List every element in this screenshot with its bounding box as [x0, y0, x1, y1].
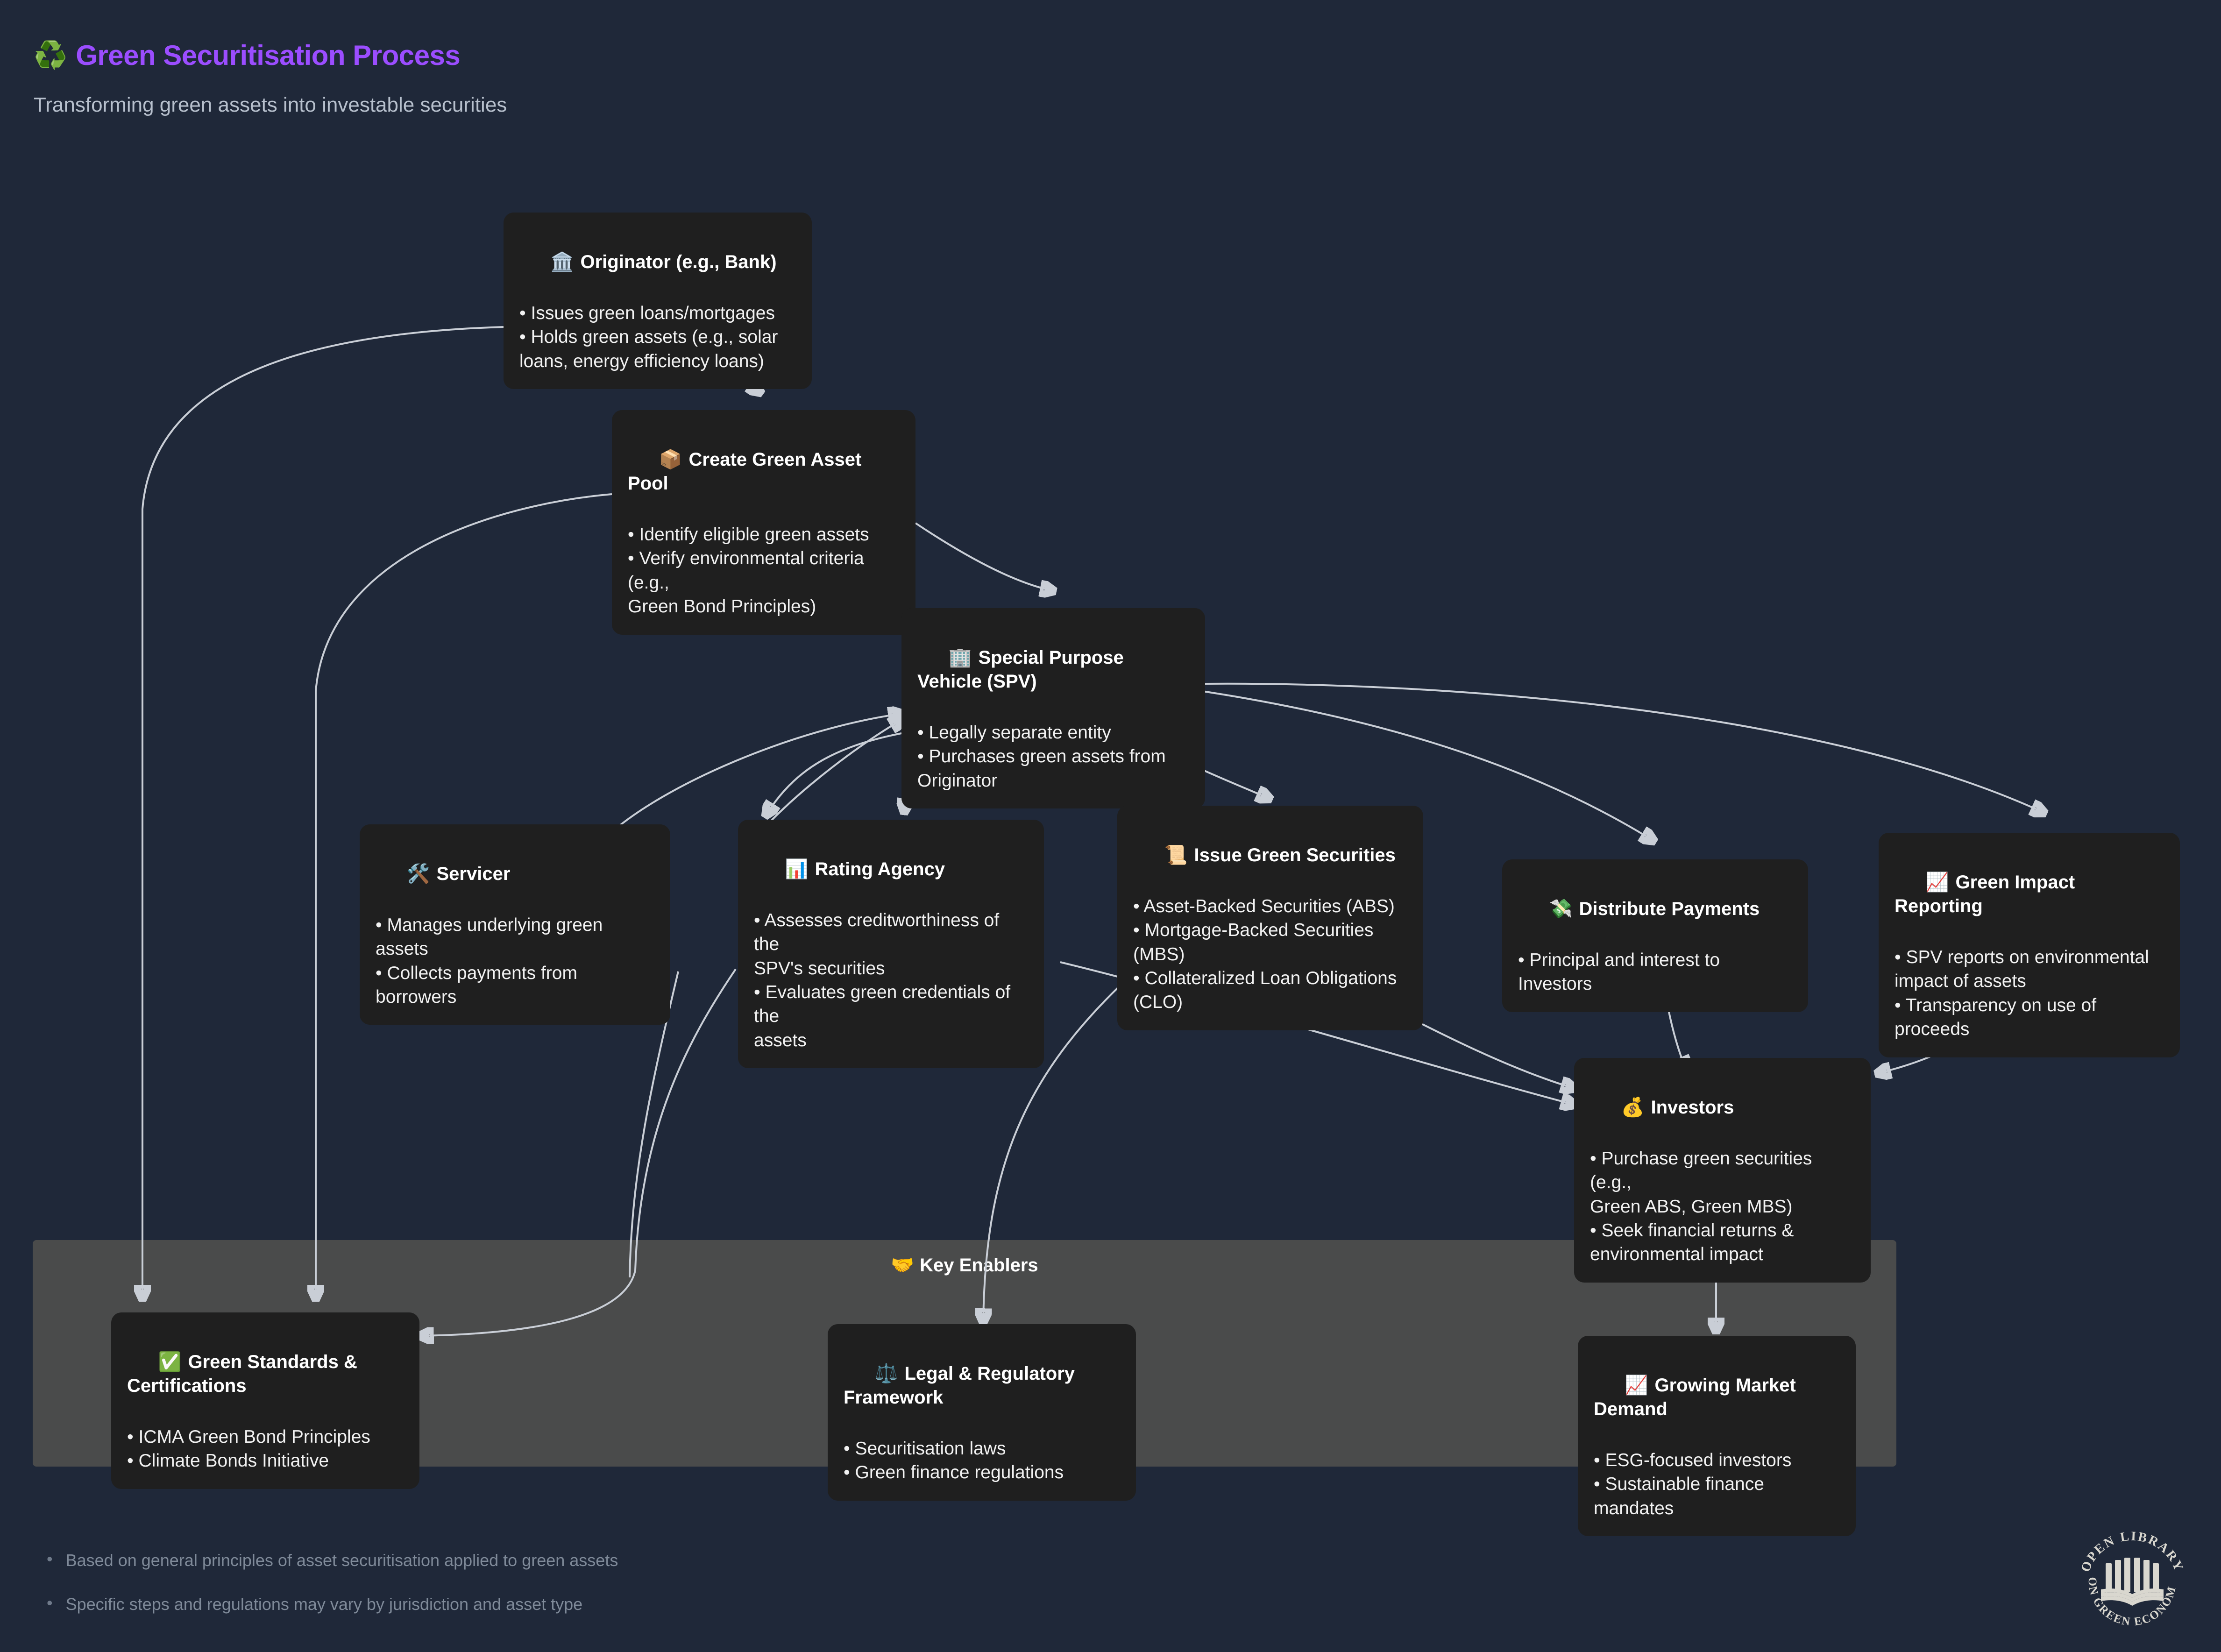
node-title: 💸Distribute Payments: [1518, 873, 1792, 945]
node-green-impact-reporting[interactable]: 📈Green Impact Reporting • SPV reports on…: [1879, 833, 2180, 1057]
node-bullet: • Legally separate entity: [917, 721, 1189, 744]
edge-spv-to-servicer: [766, 733, 901, 815]
node-bullet: • Evaluates green credentials of the: [754, 980, 1028, 1028]
footer-note: • Based on general principles of asset s…: [47, 1551, 618, 1570]
node-bullet: • Collects payments from: [376, 961, 654, 985]
node-title: 📊Rating Agency: [754, 834, 1028, 906]
open-book-icon: [2101, 1558, 2164, 1606]
footer-note: • Specific steps and regulations may var…: [47, 1595, 618, 1614]
node-title: 📜Issue Green Securities: [1133, 820, 1407, 892]
edge-rating-to-spv: [757, 719, 902, 836]
key-enablers-label: Key Enablers: [920, 1255, 1038, 1276]
node-bullet: • ESG-focused investors: [1594, 1448, 1840, 1472]
page-header: ♻️ Green Securitisation Process: [34, 39, 460, 71]
office-building-icon: 🏢: [949, 647, 972, 668]
chart-increasing-icon: 📈: [1926, 872, 1949, 893]
node-bullet: • Assesses creditworthiness of the: [754, 908, 1028, 957]
bullet-dot-icon: •: [47, 1595, 53, 1611]
node-bullet: • Verify environmental criteria (e.g.,: [628, 546, 900, 595]
node-bullet: Originator: [917, 769, 1189, 793]
node-bullet: assets: [754, 1028, 1028, 1052]
svg-text:OPEN LIBRARY: OPEN LIBRARY: [2078, 1529, 2186, 1574]
node-bullet: • Climate Bonds Initiative: [127, 1449, 404, 1473]
node-title: 🏢Special Purpose Vehicle (SPV): [917, 622, 1189, 718]
watermark-top-text: OPEN LIBRARY: [2078, 1529, 2186, 1574]
node-bullet: SPV's securities: [754, 957, 1028, 980]
node-bullet: impact of assets: [1895, 969, 2164, 993]
node-bullet: • Mortgage-Backed Securities (MBS): [1133, 918, 1407, 966]
node-bullet: • Asset-Backed Securities (ABS): [1133, 894, 1407, 918]
node-bullet: • Identify eligible green assets: [628, 523, 900, 546]
node-title: ✅Green Standards & Certifications: [127, 1326, 404, 1422]
package-icon: 📦: [659, 449, 682, 470]
money-bag-icon: 💰: [1621, 1097, 1645, 1118]
node-bullet: • Transparency on use of proceeds: [1895, 993, 2164, 1042]
node-bullet: • ICMA Green Bond Principles: [127, 1425, 404, 1449]
node-bullet: • Securitisation laws: [844, 1437, 1120, 1461]
node-bullet: • Collateralized Loan Obligations: [1133, 966, 1407, 990]
money-with-wings-icon: 💸: [1549, 899, 1573, 919]
handshake-icon: 🤝: [891, 1255, 914, 1276]
check-mark-button-icon: ✅: [158, 1352, 182, 1372]
footer-note-text: Specific steps and regulations may vary …: [66, 1595, 583, 1614]
edge-spv-to-green-impact-reporting: [1204, 684, 2044, 813]
page-title: Green Securitisation Process: [76, 39, 460, 71]
classical-building-icon: 🏛️: [551, 252, 574, 272]
node-legal-regulatory-framework[interactable]: ⚖️Legal & Regulatory Framework • Securit…: [828, 1324, 1136, 1501]
node-bullet: • Issues green loans/mortgages: [519, 301, 796, 325]
node-create-green-asset-pool[interactable]: 📦Create Green Asset Pool • Identify elig…: [612, 410, 915, 635]
node-title: ⚖️Legal & Regulatory Framework: [844, 1338, 1120, 1434]
node-bullet: • Holds green assets (e.g., solar: [519, 325, 796, 349]
node-title: 💰Investors: [1590, 1072, 1855, 1144]
node-title: 📈Growing Market Demand: [1594, 1350, 1840, 1446]
recycling-icon: ♻️: [34, 42, 67, 69]
node-bullet: • Purchase green securities (e.g.,: [1590, 1147, 1855, 1195]
node-bullet: (CLO): [1133, 990, 1407, 1014]
node-rating-agency[interactable]: 📊Rating Agency • Assesses creditworthine…: [738, 820, 1044, 1068]
node-servicer[interactable]: 🛠️Servicer • Manages underlying green as…: [360, 824, 670, 1025]
scroll-icon: 📜: [1164, 845, 1188, 865]
node-bullet: environmental impact: [1590, 1242, 1855, 1266]
node-bullet: • Purchases green assets from: [917, 744, 1189, 768]
chart-increasing-icon: 📈: [1625, 1375, 1648, 1396]
edge-originator-to-green-standards: [142, 327, 504, 1298]
diagram-canvas: ♻️ Green Securitisation Process Transfor…: [0, 0, 2221, 1652]
node-title: 🛠️Servicer: [376, 838, 654, 910]
node-issue-green-securities[interactable]: 📜Issue Green Securities • Asset-Backed S…: [1117, 806, 1423, 1030]
page-subtitle: Transforming green assets into investabl…: [34, 93, 507, 117]
node-originator[interactable]: 🏛️Originator (e.g., Bank) • Issues green…: [504, 213, 812, 389]
bar-chart-icon: 📊: [785, 859, 809, 879]
footer-notes: • Based on general principles of asset s…: [47, 1551, 618, 1638]
node-bullet: • Sustainable finance mandates: [1594, 1472, 1840, 1520]
node-distribute-payments[interactable]: 💸Distribute Payments • Principal and int…: [1502, 859, 1808, 1012]
watermark-logo: OPEN LIBRARY ON GREEN ECONOMY: [2074, 1520, 2191, 1637]
bullet-dot-icon: •: [47, 1551, 53, 1567]
footer-note-text: Based on general principles of asset sec…: [66, 1551, 618, 1570]
node-bullet: borrowers: [376, 985, 654, 1009]
edge-servicer-to-spv: [607, 714, 901, 836]
node-investors[interactable]: 💰Investors • Purchase green securities (…: [1574, 1058, 1871, 1283]
node-bullet: • SPV reports on environmental: [1895, 945, 2164, 969]
node-bullet: Green ABS, Green MBS): [1590, 1195, 1855, 1219]
node-special-purpose-vehicle[interactable]: 🏢Special Purpose Vehicle (SPV) • Legally…: [901, 608, 1205, 808]
node-bullet: • Green finance regulations: [844, 1461, 1120, 1484]
node-bullet: • Manages underlying green assets: [376, 913, 654, 961]
node-title: 📈Green Impact Reporting: [1895, 847, 2164, 943]
node-bullet: loans, energy efficiency loans): [519, 349, 796, 373]
node-bullet: Green Bond Principles): [628, 595, 900, 618]
node-growing-market-demand[interactable]: 📈Growing Market Demand • ESG-focused inv…: [1578, 1336, 1856, 1536]
node-green-standards-certifications[interactable]: ✅Green Standards & Certifications • ICMA…: [111, 1312, 419, 1489]
node-title: 📦Create Green Asset Pool: [628, 424, 900, 520]
hammer-and-wrench-icon: 🛠️: [407, 864, 430, 884]
node-bullet: • Principal and interest to Investors: [1518, 948, 1792, 996]
node-bullet: • Seek financial returns &: [1590, 1219, 1855, 1242]
edge-asset-pool-to-spv: [915, 523, 1053, 591]
node-title: 🏛️Originator (e.g., Bank): [519, 227, 796, 298]
balance-scale-icon: ⚖️: [875, 1363, 898, 1384]
